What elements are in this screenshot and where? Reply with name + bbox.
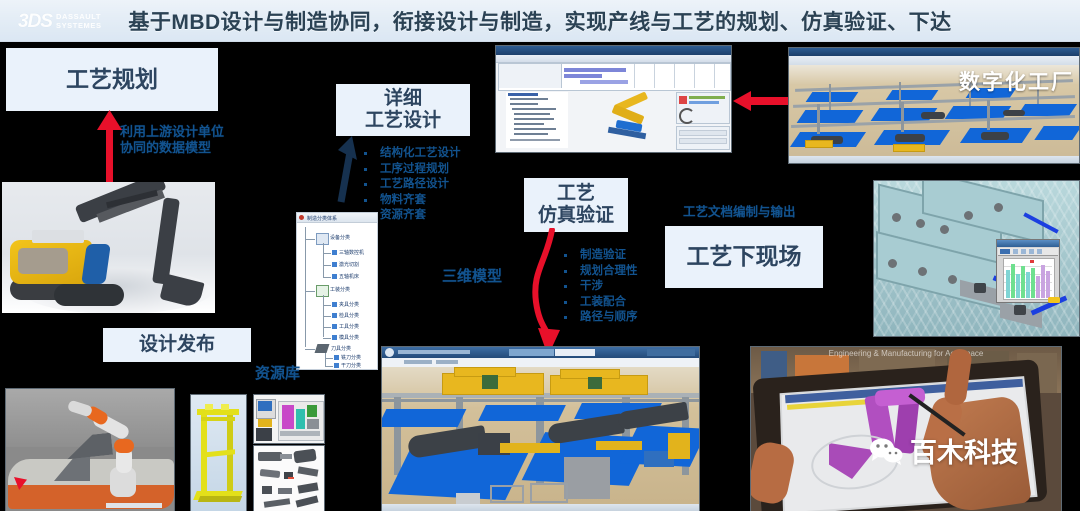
df-status-bar: [789, 156, 1079, 163]
arrow-down-to-factory-layout: [516, 228, 566, 358]
card-detailed-process-design: 详细 工艺设计: [336, 84, 470, 136]
image-factory-layout-3d: [381, 346, 700, 511]
arrow-up-to-detailed-design: [328, 136, 358, 204]
annotation-upstream-model: 利用上游设计单位 协同的数据模型: [120, 124, 224, 157]
slide-canvas: 3DS DASSAULT SYSTEMES 基于MBD设计与制造协同，衔接设计与…: [0, 0, 1080, 511]
card-process-simulation: 工艺 仿真验证: [524, 178, 628, 232]
image-excavator-cad: [2, 182, 215, 313]
image-robot-cell-simulation: [5, 388, 175, 511]
image-machine-tool-cell-cad: [253, 394, 325, 444]
card-shopfloor-delivery: 工艺下现场: [665, 226, 823, 288]
list-item: 干涉: [558, 279, 638, 295]
list-item: 结构化工艺设计: [358, 146, 461, 162]
list-item: 工装配合: [558, 295, 638, 311]
cad-title-bar: [496, 46, 731, 55]
slide-header: 3DS DASSAULT SYSTEMES 基于MBD设计与制造协同，衔接设计与…: [0, 0, 1080, 42]
annotation-resource-library: 资源库: [255, 365, 300, 384]
card-process-planning: 工艺规划: [6, 48, 218, 111]
annotation-doc-output: 工艺文档编制与输出: [683, 205, 796, 221]
image-resource-library-tree: 制造分类体系 设备分类 三轴数控机 激光切割 五轴机床 工装分类 夹具分类 检具…: [296, 212, 378, 370]
page-title: 基于MBD设计与制造协同，衔接设计与制造，实现产线与工艺的规划、仿真验证、下达: [0, 0, 1080, 41]
image-tablet-cad-photo: Engineering & Manufacturing for Aerospac…: [750, 346, 1062, 511]
image-process-planning-cad: [495, 45, 732, 153]
annotation-upstream-model-line1: 利用上游设计单位: [120, 124, 224, 140]
df-title-bar: [789, 48, 1079, 56]
wechat-icon: [869, 437, 903, 465]
image-yellow-fixture-cad: [190, 394, 247, 511]
list-item: 工序过程规划: [358, 162, 461, 178]
annotation-three-d-model: 三维模型: [442, 268, 502, 287]
list-item: 制造验证: [558, 248, 638, 264]
card-simulation-line1: 工艺: [557, 183, 595, 205]
image-cutting-tools-cad: [253, 445, 325, 511]
list-item: 工艺路径设计: [358, 177, 461, 193]
watermark-text: 百木科技: [910, 431, 1018, 470]
simulation-bullet-list: 制造验证 规划合理性 干涉 工装配合 路径与顺序: [558, 248, 638, 326]
card-detailed-line1: 详细: [384, 88, 422, 110]
arrow-up-to-process-planning: [92, 110, 128, 182]
image-digital-factory: 数字化工厂: [788, 47, 1080, 164]
watermark: 百木科技: [869, 431, 1018, 470]
cad-menu-bar: [496, 55, 731, 63]
arrow-left-to-process-cad: [733, 88, 791, 114]
card-design-release: 设计发布: [103, 328, 251, 362]
card-simulation-line2: 仿真验证: [538, 205, 614, 227]
list-item: 规划合理性: [558, 264, 638, 280]
image-plant-simulation: [873, 180, 1080, 337]
annotation-digital-factory: 数字化工厂: [959, 66, 1074, 96]
layout-status-bar: [382, 504, 699, 511]
list-item: 路径与顺序: [558, 310, 638, 326]
simulation-chart-overlay: [996, 239, 1060, 303]
annotation-upstream-model-line2: 协同的数据模型: [120, 140, 224, 156]
card-detailed-line2: 工艺设计: [365, 110, 441, 132]
list-item: 物料齐套: [358, 193, 461, 209]
